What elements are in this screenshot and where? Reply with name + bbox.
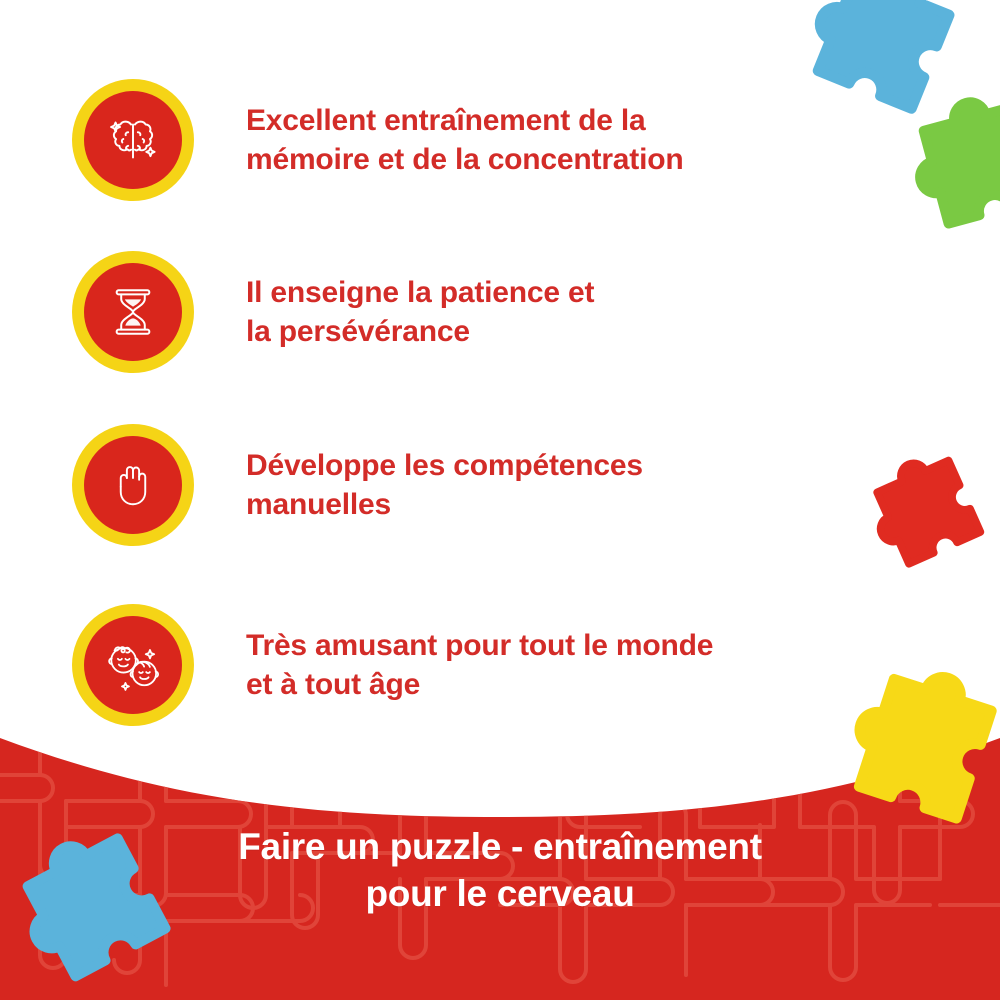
puzzle-piece-blue-top-right-icon (770, 0, 980, 158)
benefit-row-memory: Excellent entraînement de la mémoire et … (72, 79, 683, 201)
badge-inner-circle (84, 616, 182, 714)
children-faces-icon (100, 632, 166, 698)
badge-inner-circle (84, 91, 182, 189)
infographic-canvas: Excellent entraînement de la mémoire et … (0, 0, 1000, 1000)
puzzle-piece-red-right-icon (846, 428, 1000, 598)
benefit-badge (72, 424, 194, 546)
benefit-row-manual-skills: Développe les compétences manuelles (72, 424, 643, 546)
hourglass-icon (104, 283, 162, 341)
bottom-banner: Faire un puzzle - entraînement pour le c… (0, 705, 1000, 1000)
benefit-row-patience: Il enseigne la patience et la persévéran… (72, 251, 594, 373)
benefit-text: Excellent entraînement de la mémoire et … (246, 101, 683, 179)
puzzle-piece-green-top-right-icon (886, 70, 1000, 270)
hand-icon (105, 457, 161, 513)
banner-title: Faire un puzzle - entraînement pour le c… (0, 823, 1000, 918)
badge-inner-circle (84, 436, 182, 534)
benefit-badge (72, 251, 194, 373)
benefit-badge (72, 79, 194, 201)
brain-icon (102, 109, 164, 171)
badge-inner-circle (84, 263, 182, 361)
benefit-text: Développe les compétences manuelles (246, 446, 643, 524)
benefit-text: Très amusant pour tout le monde et à tou… (246, 626, 713, 704)
benefit-text: Il enseigne la patience et la persévéran… (246, 273, 594, 351)
